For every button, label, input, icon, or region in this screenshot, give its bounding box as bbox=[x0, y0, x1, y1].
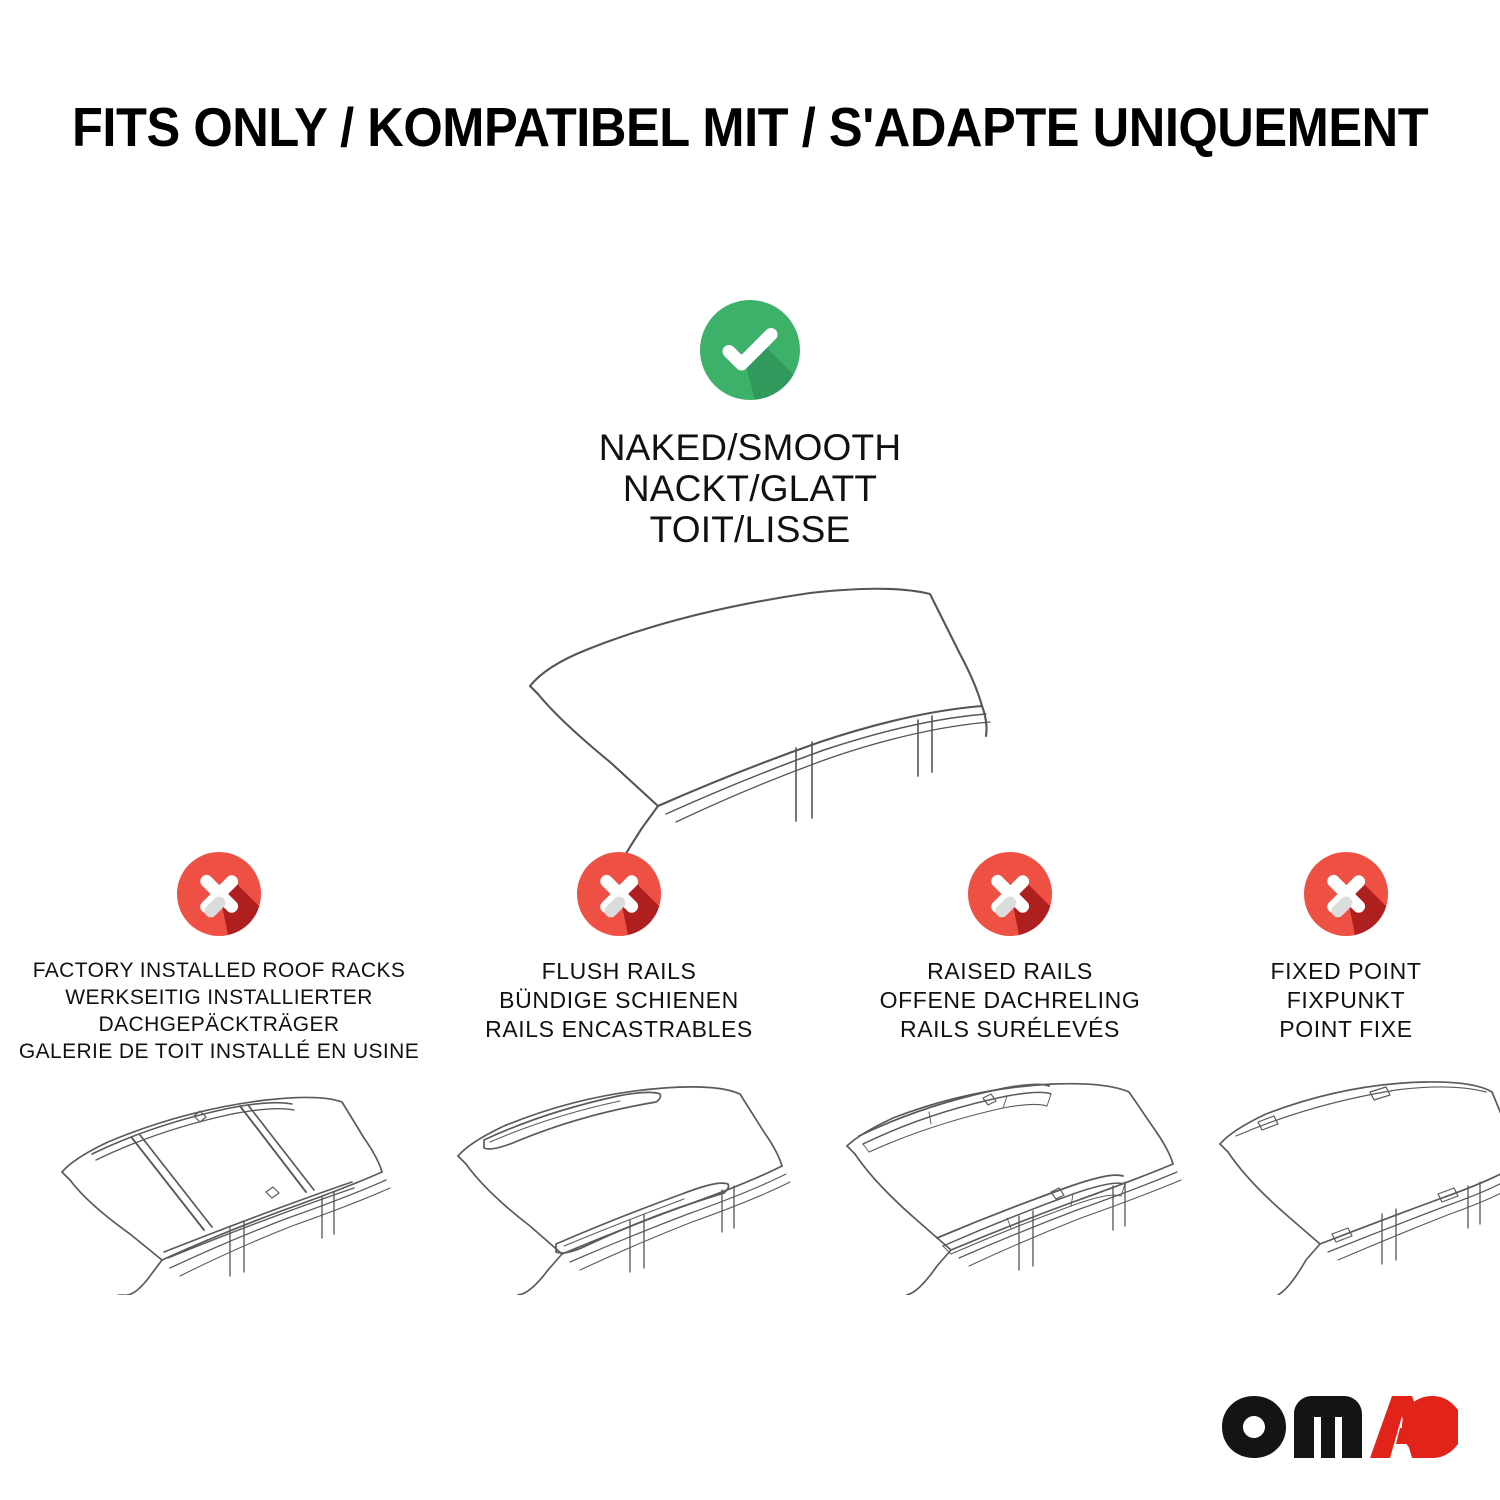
incompatible-0-label-line-3: DACHGEPÄCKTRÄGER bbox=[14, 1011, 424, 1038]
x-circle-icon bbox=[14, 848, 424, 945]
compatible-option: NAKED/SMOOTH NACKT/GLATT TOIT/LISSE bbox=[450, 296, 1050, 861]
incompatible-labels-1: FLUSH RAILS BÜNDIGE SCHIENEN RAILS ENCAS… bbox=[434, 957, 804, 1044]
car-roof-naked-smooth-illustration bbox=[450, 566, 1050, 861]
page-title: FITS ONLY / KOMPATIBEL MIT / S'ADAPTE UN… bbox=[0, 96, 1500, 158]
x-circle-icon bbox=[820, 848, 1200, 945]
car-roof-fixed-point-illustration bbox=[1206, 1080, 1486, 1295]
incompatible-labels-2: RAISED RAILS OFFENE DACHRELING RAILS SUR… bbox=[820, 957, 1200, 1044]
incompatible-option-flush-rails: FLUSH RAILS BÜNDIGE SCHIENEN RAILS ENCAS… bbox=[434, 848, 804, 1044]
incompatible-option-factory-roof-racks: FACTORY INSTALLED ROOF RACKS WERKSEITIG … bbox=[14, 848, 424, 1065]
incompatible-1-label-line-3: RAILS ENCASTRABLES bbox=[434, 1015, 804, 1044]
incompatible-1-label-line-1: FLUSH RAILS bbox=[434, 957, 804, 986]
incompatible-0-label-line-4: GALERIE DE TOIT INSTALLÉ EN USINE bbox=[14, 1038, 424, 1065]
incompatible-3-label-line-1: FIXED POINT bbox=[1206, 957, 1486, 986]
incompatible-2-label-line-3: RAILS SURÉLEVÉS bbox=[820, 1015, 1200, 1044]
incompatible-option-fixed-point: FIXED POINT FIXPUNKT POINT FIXE bbox=[1206, 848, 1486, 1044]
incompatible-labels-3: FIXED POINT FIXPUNKT POINT FIXE bbox=[1206, 957, 1486, 1044]
car-roof-factory-roof-racks-illustration bbox=[14, 1080, 424, 1295]
incompatible-0-label-line-2: WERKSEITIG INSTALLIERTER bbox=[14, 984, 424, 1011]
check-circle-icon bbox=[450, 296, 1050, 409]
incompatible-0-label-line-1: FACTORY INSTALLED ROOF RACKS bbox=[14, 957, 424, 984]
car-roof-raised-rails-illustration bbox=[820, 1080, 1200, 1295]
incompatible-1-label-line-2: BÜNDIGE SCHIENEN bbox=[434, 986, 804, 1015]
car-roof-flush-rails-illustration bbox=[434, 1080, 804, 1295]
compatible-labels: NAKED/SMOOTH NACKT/GLATT TOIT/LISSE bbox=[450, 427, 1050, 550]
incompatible-2-label-line-2: OFFENE DACHRELING bbox=[820, 986, 1200, 1015]
page-title-text: FITS ONLY / KOMPATIBEL MIT / S'ADAPTE UN… bbox=[72, 96, 1428, 158]
incompatible-labels-0: FACTORY INSTALLED ROOF RACKS WERKSEITIG … bbox=[14, 957, 424, 1065]
incompatible-3-label-line-2: FIXPUNKT bbox=[1206, 986, 1486, 1015]
incompatible-3-label-line-3: POINT FIXE bbox=[1206, 1015, 1486, 1044]
incompatible-options-row: FACTORY INSTALLED ROOF RACKS WERKSEITIG … bbox=[0, 848, 1500, 1288]
x-circle-icon bbox=[1206, 848, 1486, 945]
incompatible-option-raised-rails: RAISED RAILS OFFENE DACHRELING RAILS SUR… bbox=[820, 848, 1200, 1044]
incompatible-2-label-line-1: RAISED RAILS bbox=[820, 957, 1200, 986]
compatible-label-line-2: NACKT/GLATT bbox=[450, 468, 1050, 509]
omac-logo bbox=[1222, 1396, 1458, 1458]
x-circle-icon bbox=[434, 848, 804, 945]
compatible-label-line-3: TOIT/LISSE bbox=[450, 509, 1050, 550]
compatible-label-line-1: NAKED/SMOOTH bbox=[450, 427, 1050, 468]
